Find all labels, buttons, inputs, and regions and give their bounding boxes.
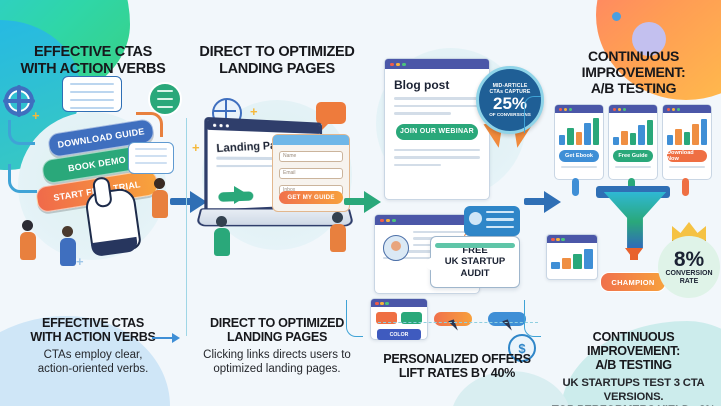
section-2-bottom-title-line1: DIRECT TO OPTIMIZED bbox=[186, 316, 368, 330]
section-4-bottom-title-line1: CONTINUOUS IMPROVEMENT: bbox=[546, 330, 721, 358]
section-4-bottom-sub-line1: UK STARTUPS TEST 3 CTA VERSIONS. bbox=[546, 377, 721, 404]
champion-badge: CHAMPION bbox=[600, 272, 666, 292]
caption-arrow-1-stem bbox=[152, 337, 174, 339]
browser-titlebar bbox=[663, 105, 711, 113]
section-3-bottom-block: PERSONALIZED OFFERS LIFT RATES BY 40% bbox=[368, 352, 546, 380]
person-illustration-2 bbox=[62, 226, 76, 266]
person-illustration-5 bbox=[332, 212, 346, 252]
support-chat-bubble bbox=[464, 206, 520, 236]
person-illustration-4 bbox=[216, 216, 230, 256]
mini-bar-chart bbox=[551, 247, 593, 269]
form-header bbox=[273, 135, 349, 145]
elbow-connector-3 bbox=[524, 300, 541, 337]
text-line bbox=[394, 156, 480, 159]
section-2-top-title: DIRECT TO OPTIMIZED LANDING PAGES bbox=[186, 44, 368, 77]
section-1-top-title-line2: WITH ACTION VERBS bbox=[0, 61, 186, 78]
text-line bbox=[394, 112, 451, 115]
text-line bbox=[394, 149, 480, 152]
elbow-connector-3b bbox=[524, 96, 541, 133]
text-line bbox=[394, 164, 441, 167]
section-ab-testing: CONTINUOUS IMPROVEMENT: A/B TESTING Get … bbox=[546, 0, 721, 406]
curved-arrow-icon-2 bbox=[8, 164, 37, 193]
section-2-top-title-line1: DIRECT TO OPTIMIZED bbox=[186, 44, 368, 61]
variant-card-c: Download Now bbox=[662, 104, 712, 180]
text-line bbox=[413, 231, 471, 233]
blog-post-card: Blog post JOIN OUR WEBINAR bbox=[384, 58, 490, 200]
caption-arrow-1-head bbox=[172, 333, 180, 343]
green-arrow-icon bbox=[234, 186, 249, 204]
section-2-bottom-title: DIRECT TO OPTIMIZED LANDING PAGES bbox=[186, 316, 368, 344]
section-1-bottom-title: EFFECTIVE CTAs WITH ACTION VERBS bbox=[0, 316, 186, 344]
browser-titlebar bbox=[208, 120, 320, 134]
offer-speech-bubble: FREE UK STARTUP AUDIT bbox=[430, 236, 520, 288]
section-4-top-title: CONTINUOUS IMPROVEMENT: A/B TESTING bbox=[546, 48, 721, 96]
mini-bar-chart bbox=[559, 117, 599, 145]
section-1-bottom-title-line1: EFFECTIVE CTAs bbox=[0, 316, 186, 330]
pipe-blue bbox=[572, 178, 579, 196]
variant-cta-download-now[interactable]: Download Now bbox=[667, 150, 707, 162]
section-1-bottom-sub-line2: action-oriented verbs. bbox=[0, 363, 186, 377]
browser-titlebar bbox=[609, 105, 657, 113]
section-3-bottom-title-line1: PERSONALIZED OFFERS bbox=[368, 352, 546, 366]
dashed-divider bbox=[378, 322, 538, 323]
section-2-top-title-line2: LANDING PAGES bbox=[186, 61, 368, 78]
lead-capture-form: Name Email Inbox GET MY GUIDE bbox=[272, 134, 350, 212]
variant-card-b: Free Guide bbox=[608, 104, 658, 180]
browser-titlebar bbox=[555, 105, 603, 113]
section-3-illustration: Blog post JOIN OUR WEBINAR MID-ARTICLE C… bbox=[368, 48, 546, 348]
section-2-bottom-block: DIRECT TO OPTIMIZED LANDING PAGES Clicki… bbox=[186, 316, 368, 376]
sparkle-icon-3: + bbox=[192, 140, 200, 155]
person-illustration-1 bbox=[22, 220, 36, 260]
text-line bbox=[561, 166, 597, 168]
form-field-email[interactable]: Email bbox=[279, 168, 343, 179]
browser-titlebar bbox=[385, 59, 489, 69]
mini-bar-chart bbox=[613, 117, 653, 145]
avatar bbox=[383, 235, 409, 261]
speech-bubble-icon-2 bbox=[128, 142, 174, 174]
section-2-bottom-sub-line1: Clicking links directs users to bbox=[186, 349, 368, 363]
section-4-bottom-title-line2: A/B TESTING bbox=[546, 358, 721, 372]
down-arrow-icon bbox=[625, 248, 643, 260]
color-button[interactable]: COLOR bbox=[377, 329, 421, 340]
sparkle-icon-2: + bbox=[76, 254, 84, 269]
section-4-top-title-line1: CONTINUOUS bbox=[546, 48, 721, 64]
section-1-top-title: EFFECTIVE CTAs WITH ACTION VERBS bbox=[0, 44, 186, 77]
section-3-bottom-title: PERSONALIZED OFFERS LIFT RATES BY 40% bbox=[368, 352, 546, 380]
variant-card-a: Get Ebook bbox=[554, 104, 604, 180]
flow-arrow-2-stem bbox=[344, 198, 366, 205]
browser-titlebar bbox=[547, 235, 597, 243]
offer-line-3: AUDIT bbox=[445, 268, 506, 280]
gear-icon bbox=[4, 86, 34, 116]
speech-bubble-icon bbox=[62, 76, 122, 112]
conversion-rate-label-2: RATE bbox=[680, 278, 699, 286]
section-2-bottom-sub-line2: optimized landing pages. bbox=[186, 363, 368, 377]
text-line bbox=[394, 97, 480, 100]
person-illustration-3 bbox=[154, 178, 168, 218]
section-1-bottom-sub-line1: CTAs employ clear, bbox=[0, 349, 186, 363]
section-4-illustration: Get Ebook Free Guide Download Now bbox=[546, 104, 721, 324]
section-effective-ctas: EFFECTIVE CTAs WITH ACTION VERBS + + DOW… bbox=[0, 0, 186, 406]
section-1-illustration: + + DOWNLOAD GUIDE BOOK DEMO START FREE … bbox=[6, 104, 182, 294]
curved-arrow-icon-1 bbox=[8, 120, 35, 145]
section-2-bottom-sub: Clicking links directs users to optimize… bbox=[186, 349, 368, 376]
blog-post-title: Blog post bbox=[394, 78, 489, 92]
section-personalized-offers: Blog post JOIN OUR WEBINAR MID-ARTICLE C… bbox=[368, 0, 546, 406]
section-1-bottom-block: EFFECTIVE CTAs WITH ACTION VERBS CTAs em… bbox=[0, 316, 186, 376]
text-line bbox=[669, 166, 705, 168]
infographic-canvas: EFFECTIVE CTAs WITH ACTION VERBS + + DOW… bbox=[0, 0, 721, 406]
conversion-funnel bbox=[602, 190, 668, 248]
conversion-rate-value: 8% bbox=[674, 249, 704, 270]
sparkle-icon-4: + bbox=[250, 104, 258, 119]
results-chart-card bbox=[546, 234, 598, 280]
color-variant-card: COLOR bbox=[370, 298, 428, 340]
form-submit-button[interactable]: GET MY GUIDE bbox=[279, 191, 343, 204]
browser-titlebar bbox=[371, 299, 427, 307]
blog-cta-button[interactable]: JOIN OUR WEBINAR bbox=[396, 124, 478, 140]
section-4-bottom-title: CONTINUOUS IMPROVEMENT: A/B TESTING bbox=[546, 330, 721, 372]
offer-line-2: UK STARTUP bbox=[445, 256, 506, 268]
conversion-rate-stat: 8% CONVERSION RATE bbox=[658, 236, 720, 298]
variant-cta-get-ebook[interactable]: Get Ebook bbox=[559, 150, 599, 162]
section-3-bottom-title-line2: LIFT RATES BY 40% bbox=[368, 366, 546, 380]
mini-bar-chart bbox=[667, 117, 707, 145]
flow-arrow-3-stem bbox=[524, 198, 546, 205]
section-landing-pages: DIRECT TO OPTIMIZED LANDING PAGES + + La… bbox=[186, 0, 368, 406]
section-4-bottom-sub: UK STARTUPS TEST 3 CTA VERSIONS. TOP PER… bbox=[546, 377, 721, 406]
chat-bubble-icon bbox=[316, 102, 346, 124]
section-1-bottom-sub: CTAs employ clear, action-oriented verbs… bbox=[0, 349, 186, 376]
section-2-illustration: + + Landing Page Name Email Inbox GET MY… bbox=[188, 96, 366, 296]
text-line bbox=[615, 166, 651, 168]
form-field-name[interactable]: Name bbox=[279, 151, 343, 162]
pointing-hand-cursor-icon bbox=[84, 187, 142, 255]
section-4-top-title-line2: IMPROVEMENT: bbox=[546, 64, 721, 80]
offer-line-1: FREE bbox=[445, 245, 506, 257]
pipe-orange bbox=[682, 178, 689, 196]
checklist-icon bbox=[148, 82, 182, 116]
badge-value: 25% bbox=[493, 95, 527, 112]
variant-cta-free-guide[interactable]: Free Guide bbox=[613, 150, 653, 162]
section-4-bottom-block: CONTINUOUS IMPROVEMENT: A/B TESTING UK S… bbox=[546, 330, 721, 406]
text-line bbox=[394, 105, 480, 108]
sparkle-icon-1: + bbox=[32, 108, 40, 123]
section-4-top-title-line3: A/B TESTING bbox=[546, 80, 721, 96]
section-1-top-title-line1: EFFECTIVE CTAs bbox=[0, 44, 186, 61]
elbow-connector-2 bbox=[346, 300, 363, 337]
conversion-rate-label-1: CONVERSION bbox=[665, 270, 712, 278]
section-2-bottom-title-line2: LANDING PAGES bbox=[186, 330, 368, 344]
